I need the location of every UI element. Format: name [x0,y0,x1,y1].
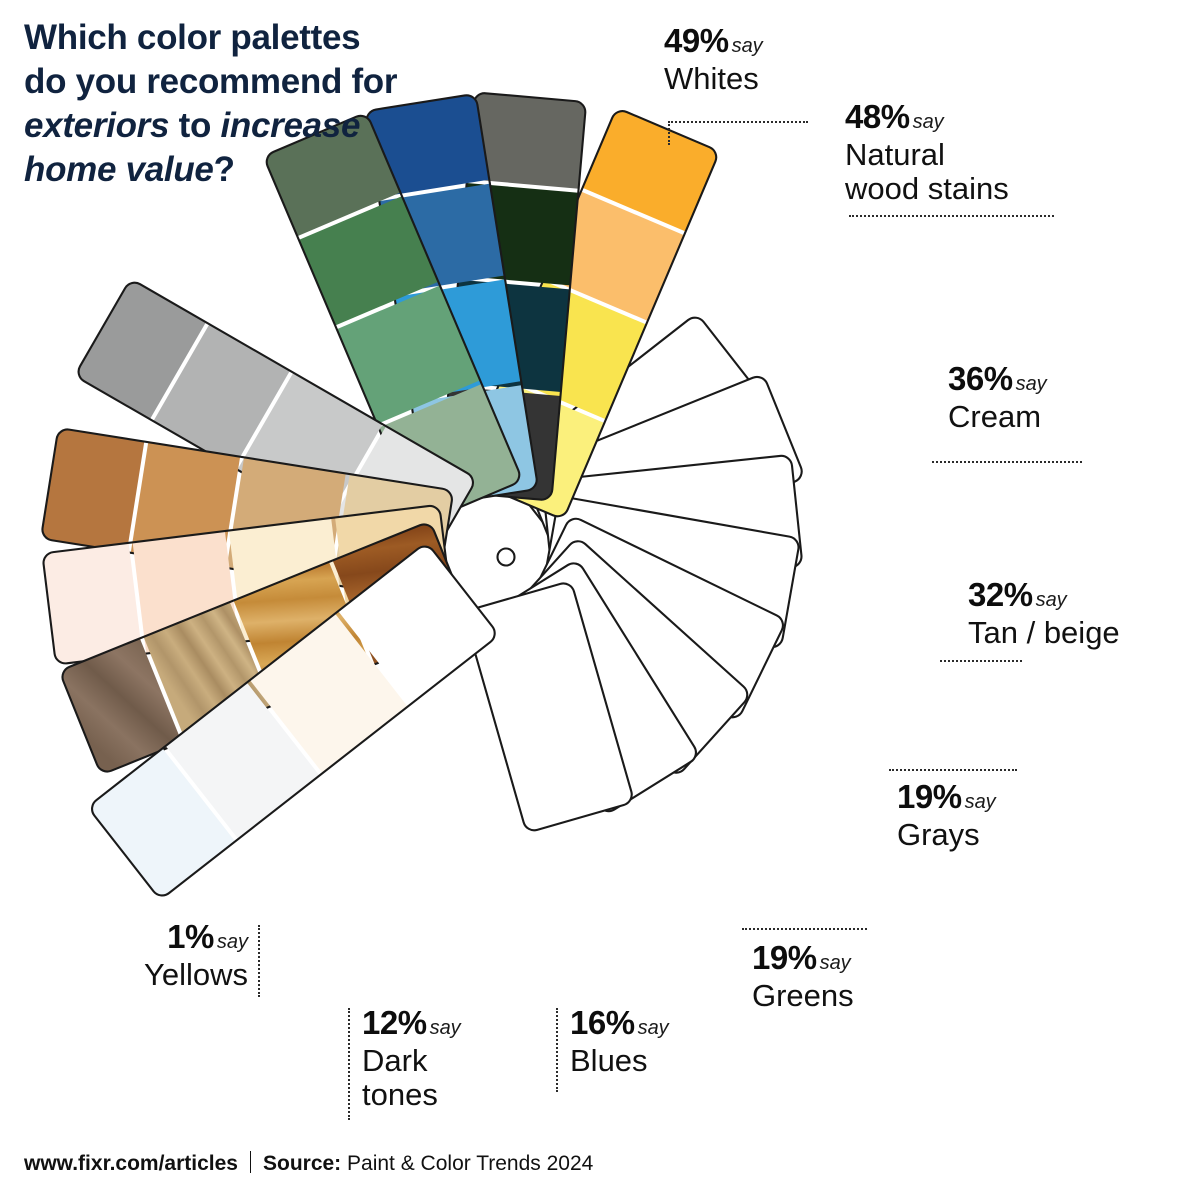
callout-whites-pct-row: 49%say [664,24,763,57]
callout-whites-say: say [732,35,763,57]
title-line-4: home value? [24,148,544,192]
callout-cream-pct: 36% [948,360,1013,397]
leader-line-tan [940,660,1022,662]
callout-greens-pct: 19% [752,939,817,976]
callout-greens-name: Greens [752,979,854,1013]
infographic-page: Which color palettes do you recommend fo… [0,0,1200,1200]
callout-tan-beige: 32%say Tan / beige [968,578,1120,650]
leader-line-grays [889,769,1017,771]
swatch-tan-4 [38,427,144,552]
leader-line-cream [932,461,1082,463]
title-line-3-conn: to [169,106,220,145]
callout-whites: 49%say Whites [664,24,763,96]
callout-dark-pct: 12% [362,1004,427,1041]
callout-blues-pct: 16% [570,1004,635,1041]
title-question-mark: ? [214,150,235,189]
footer: www.fixr.com/articlesSource: Paint & Col… [24,1151,593,1176]
callout-dark-tones: 12%say Dark tones [362,1006,461,1112]
ring-hole-icon [498,549,515,566]
callout-natural-wood-stains: 48%say Natural wood stains [845,100,1009,206]
callout-cream-name: Cream [948,400,1047,434]
callout-greens: 19%say Greens [752,941,854,1013]
leader-line-whites-v [668,121,670,145]
callout-greens-say: say [820,952,851,974]
title-line-1: Which color palettes [24,16,544,60]
callout-yellows-pct-row: 1%say [34,920,248,953]
callout-dark-name: Dark tones [362,1044,461,1112]
title-emphasis-home-value: home value [24,150,214,189]
callout-greens-pct-row: 19%say [752,941,854,974]
title-emphasis-increase: increase [220,106,360,145]
callout-blues-pct-row: 16%say [570,1006,669,1039]
callout-grays-pct: 19% [897,778,962,815]
callout-grays-name: Grays [897,818,996,852]
callout-cream-say: say [1016,373,1047,395]
callout-yellows-say: say [217,931,248,953]
callout-wood-pct: 48% [845,98,910,135]
title-line-2: do you recommend for [24,60,544,104]
leader-line-whites [668,121,808,123]
footer-source-label: Source: [263,1152,341,1175]
callout-grays: 19%say Grays [897,780,996,852]
callout-dark-say: say [430,1017,461,1039]
footer-divider [250,1151,251,1173]
callout-tan-pct: 32% [968,576,1033,613]
callout-blues-say: say [638,1017,669,1039]
callout-yellows: 1%say Yellows [34,920,248,992]
callout-yellows-pct: 1% [167,918,214,955]
callout-tan-say: say [1036,589,1067,611]
callout-cream: 36%say Cream [948,362,1047,434]
leader-line-greens [742,928,867,930]
callout-cream-pct-row: 36%say [948,362,1047,395]
footer-source-value: Paint & Color Trends 2024 [347,1152,593,1175]
title-emphasis-exteriors: exteriors [24,106,169,145]
page-title: Which color palettes do you recommend fo… [24,16,544,192]
callout-blues-name: Blues [570,1044,669,1078]
callout-wood-say: say [913,111,944,133]
callout-tan-pct-row: 32%say [968,578,1120,611]
callout-wood-name: Natural wood stains [845,138,1009,206]
callout-grays-say: say [965,791,996,813]
callout-whites-pct: 49% [664,22,729,59]
callout-wood-pct-row: 48%say [845,100,1009,133]
leader-line-yellows [258,925,260,997]
callout-yellows-name: Yellows [34,958,248,992]
title-line-3: exteriors to increase [24,104,544,148]
callout-grays-pct-row: 19%say [897,780,996,813]
leader-line-dark [348,1008,350,1120]
callout-whites-name: Whites [664,62,763,96]
callout-tan-name: Tan / beige [968,616,1120,650]
leader-line-wood [849,215,1054,217]
footer-site-link[interactable]: www.fixr.com/articles [24,1152,238,1175]
callout-dark-pct-row: 12%say [362,1006,461,1039]
callout-blues: 16%say Blues [570,1006,669,1078]
leader-line-blues [556,1008,558,1092]
